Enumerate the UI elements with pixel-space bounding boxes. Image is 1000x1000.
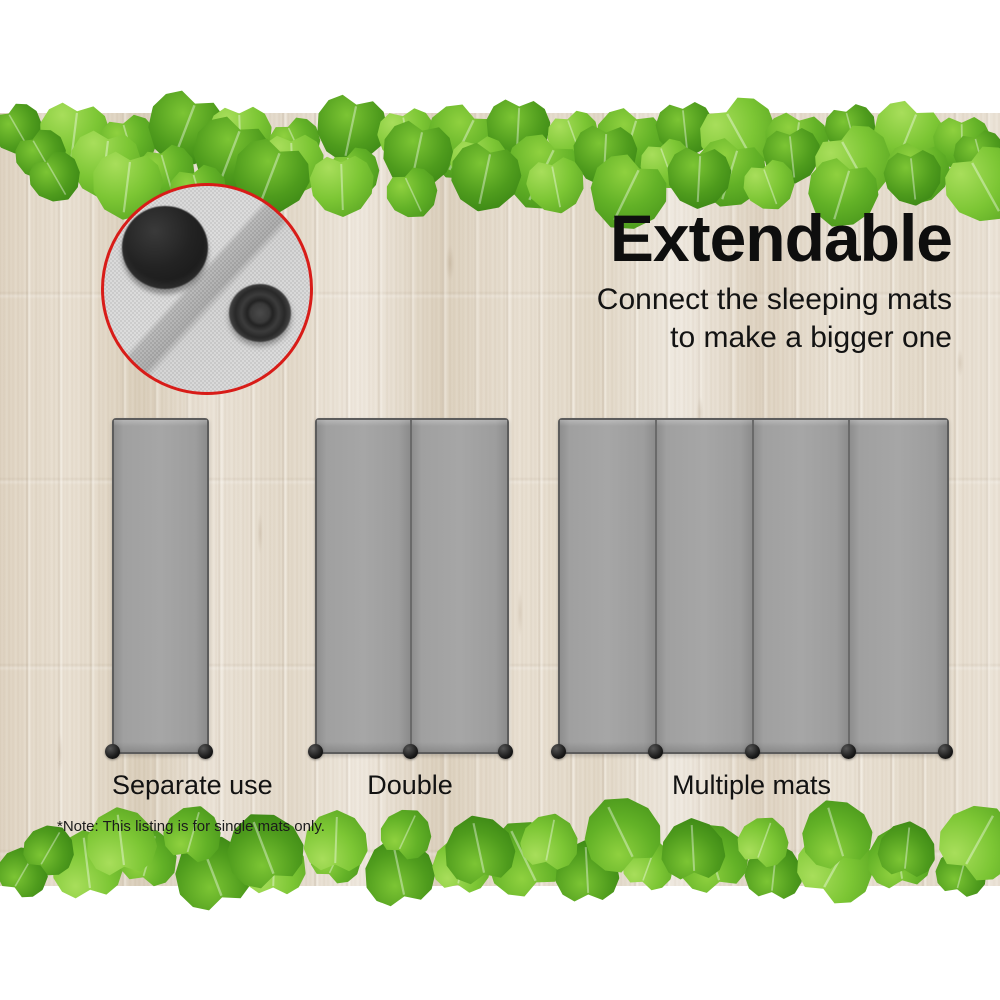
sleeping-mat[interactable] (754, 420, 851, 752)
snap-connector-dot (105, 744, 120, 759)
product-feature-poster: Extendable Connect the sleeping mats to … (0, 0, 1000, 1000)
mat-group-separate[interactable] (112, 418, 209, 754)
headline-subtitle: Connect the sleeping mats to make a bigg… (432, 281, 952, 358)
snap-socket-icon (229, 284, 291, 342)
mat-group-double[interactable] (315, 418, 509, 754)
subtitle-line-1: Connect the sleeping mats (432, 281, 952, 319)
snap-connector-dot (745, 744, 760, 759)
sleeping-mat[interactable] (560, 420, 657, 752)
mat-group-caption-multiple: Multiple mats (558, 770, 945, 801)
snap-button-detail-circle (101, 183, 313, 395)
snap-connector-dot (308, 744, 323, 759)
mat-group-multiple[interactable] (558, 418, 949, 754)
snap-connector-dot (198, 744, 213, 759)
sleeping-mat[interactable] (850, 420, 947, 752)
snap-connector-dot (551, 744, 566, 759)
snap-connector-dot (498, 744, 513, 759)
subtitle-line-2: to make a bigger one (432, 319, 952, 357)
mat-group-caption-double: Double (315, 770, 505, 801)
sleeping-mat[interactable] (114, 420, 207, 752)
footnote-text: *Note: This listing is for single mats o… (57, 818, 325, 835)
snap-connector-dot (938, 744, 953, 759)
mat-group-caption-separate: Separate use (112, 770, 205, 801)
snap-cap-icon (122, 206, 208, 289)
headline-block: Extendable Connect the sleeping mats to … (432, 205, 952, 358)
sleeping-mat[interactable] (317, 420, 412, 752)
sleeping-mat[interactable] (657, 420, 754, 752)
sleeping-mat[interactable] (412, 420, 507, 752)
snap-connector-dot (403, 744, 418, 759)
page-title: Extendable (432, 205, 952, 271)
snap-connector-dot (648, 744, 663, 759)
